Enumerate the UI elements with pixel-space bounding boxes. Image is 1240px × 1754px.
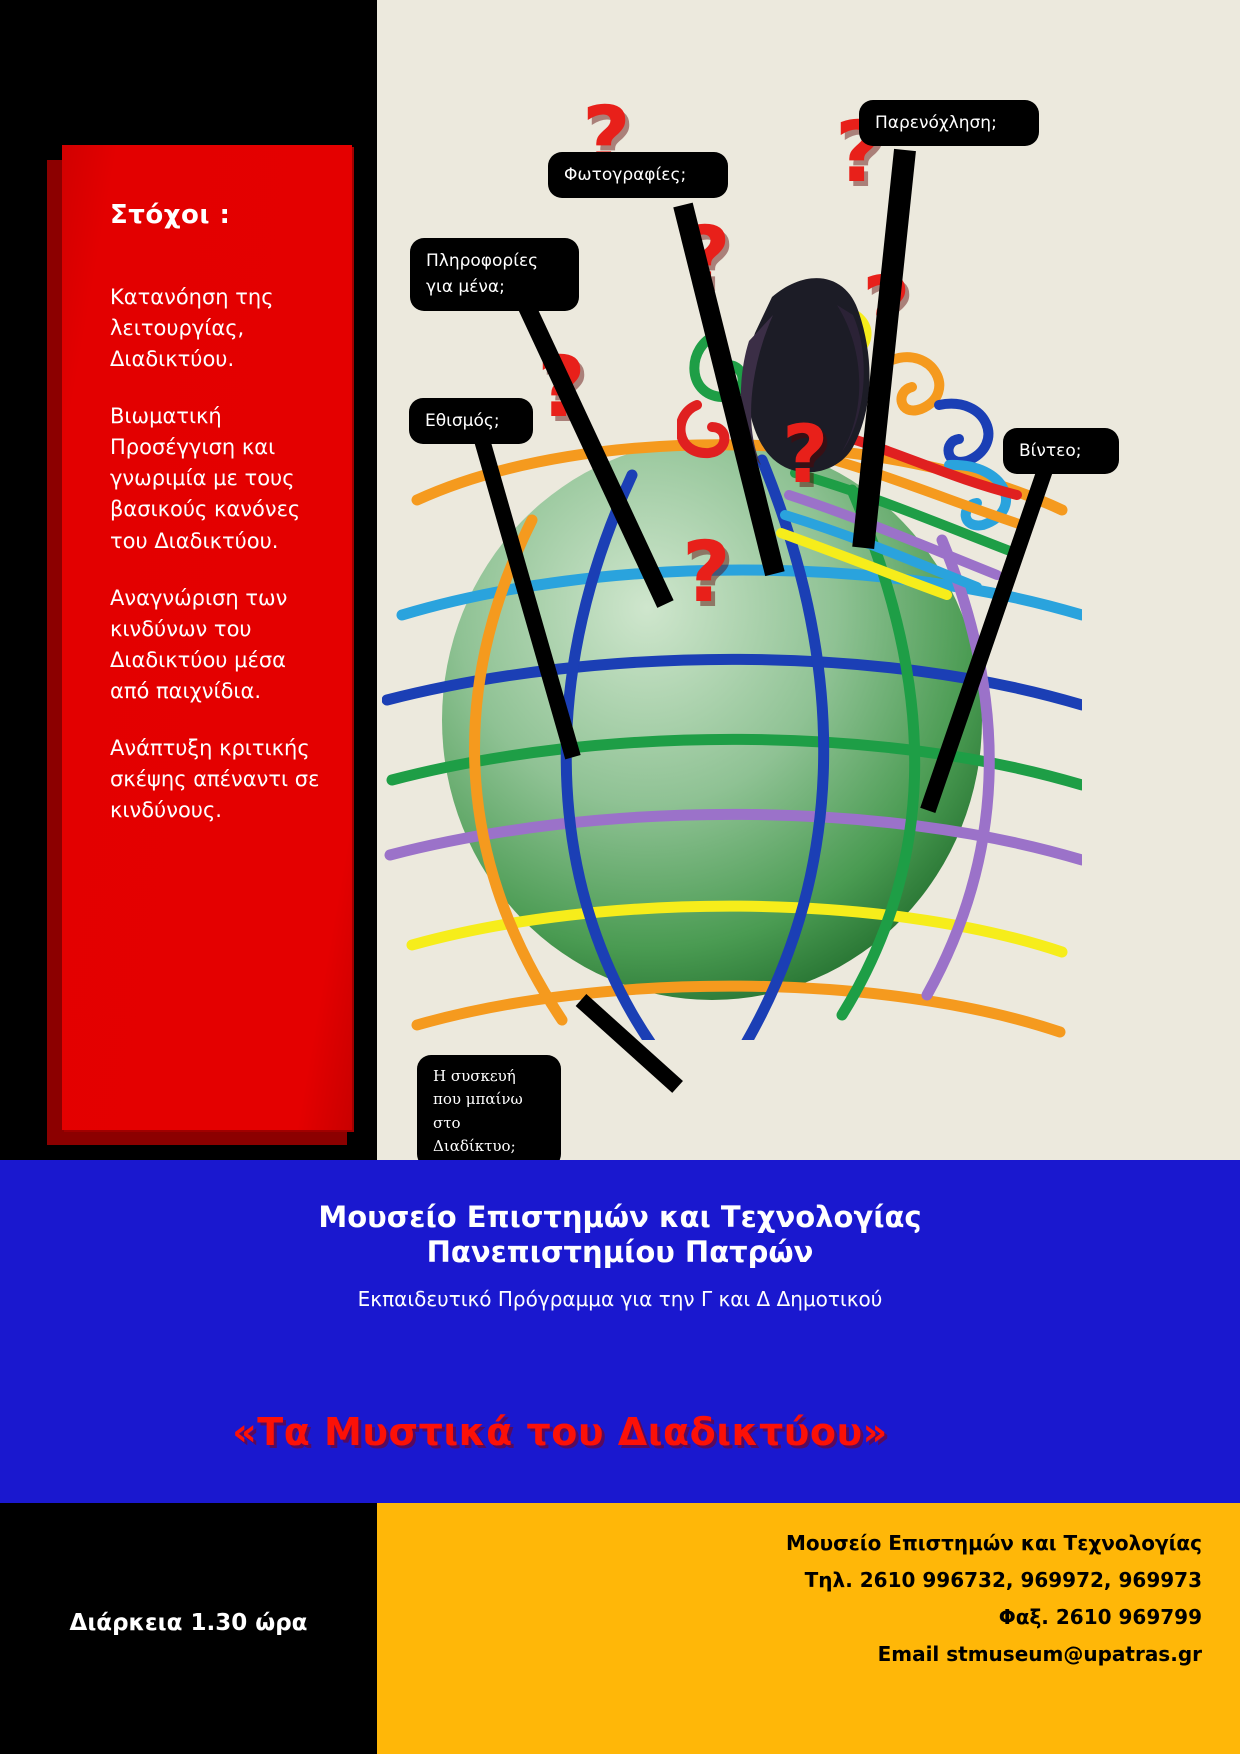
bubble-addiction-text: Εθισμός; [425,411,500,431]
organisation-title: Μουσείο Επιστημών και Τεχνολογίας Πανεπι… [0,1160,1240,1271]
program-title: «Τα Μυστικά του Διαδικτύου» [0,1410,1120,1454]
contact-details: Μουσείο Επιστημών και Τεχνολογίας Τηλ. 2… [786,1525,1202,1673]
bubble-photos[interactable]: Φωτογραφίες; [548,152,728,198]
bubble-video-text: Βίντεο; [1019,441,1081,461]
objective-item-3: Αναγνώριση των κινδύνων του Διαδικτύου μ… [110,583,324,707]
bubble-harassment-text: Παρενόχληση; [875,113,997,133]
objective-item-2: Βιωματική Προσέγγιση και γνωριμία με του… [110,401,324,556]
objectives-heading: Στόχοι : [110,200,324,230]
program-line: Εκπαιδευτικό Πρόγραμμα για την Γ και Δ Δ… [0,1287,1240,1311]
bubble-addiction[interactable]: Εθισμός; [409,398,533,444]
bubble-info-about-me[interactable]: Πληροφορίες για μένα; [410,238,579,311]
contact-org: Μουσείο Επιστημών και Τεχνολογίας [786,1525,1202,1562]
bubble-video[interactable]: Βίντεο; [1003,428,1119,474]
objective-item-4: Ανάπτυξη κριτικής σκέψης απέναντι σε κιν… [110,733,324,826]
organisation-title-line1: Μουσείο Επιστημών και Τεχνολογίας [0,1200,1240,1235]
organisation-band: Μουσείο Επιστημών και Τεχνολογίας Πανεπι… [0,1160,1240,1410]
poster-root: ? ? ? ? ? ? ? Παρενόχληση; Φωτογραφίες; … [0,0,1240,1754]
objective-item-1: Κατανόηση της λειτουργίας, Διαδικτύου. [110,282,324,375]
organisation-title-line2: Πανεπιστημίου Πατρών [0,1235,1240,1270]
bubble-device[interactable]: Η συσκευή που μπαίνω στο Διαδίκτυο; [417,1055,561,1160]
contact-panel: Μουσείο Επιστημών και Τεχνολογίας Τηλ. 2… [377,1503,1240,1754]
contact-email[interactable]: Email stmuseum@upatras.gr [786,1636,1202,1673]
contact-fax: Φαξ. 2610 969799 [786,1599,1202,1636]
bubble-device-text: Η συσκευή που μπαίνω στο Διαδίκτυο; [433,1067,523,1155]
bubble-photos-text: Φωτογραφίες; [564,165,686,185]
contact-phone: Τηλ. 2610 996732, 969972, 969973 [786,1562,1202,1599]
artwork-panel: ? ? ? ? ? ? ? Παρενόχληση; Φωτογραφίες; … [377,0,1240,1160]
objectives-panel: Στόχοι : Κατανόηση της λειτουργίας, Διαδ… [62,145,352,1130]
duration-label: Διάρκεια 1.30 ώρα [0,1610,377,1636]
bubble-info-about-me-text: Πληροφορίες για μένα; [426,251,538,297]
bubble-harassment[interactable]: Παρενόχληση; [859,100,1039,146]
